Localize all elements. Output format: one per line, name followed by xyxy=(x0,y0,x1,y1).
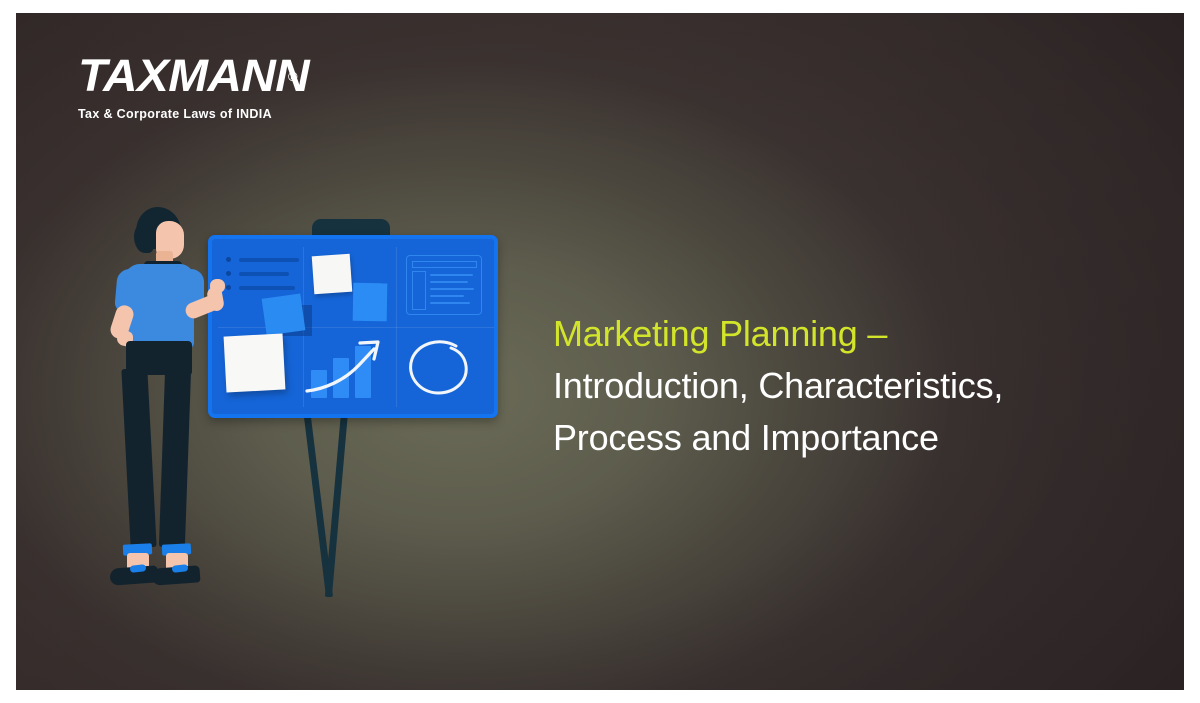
bullet-dot-icon xyxy=(226,271,231,276)
planning-board xyxy=(208,235,498,418)
bullet-dot-icon xyxy=(226,257,231,262)
registered-trademark-icon: ® xyxy=(288,69,298,84)
document-text-line xyxy=(430,288,474,290)
document-header-bar xyxy=(412,261,477,268)
person-leg-right xyxy=(159,369,191,547)
sticky-note-blue-held xyxy=(262,293,306,335)
page-title-line-1: Marketing Planning – xyxy=(553,308,1153,360)
list-item xyxy=(226,285,299,290)
easel-leg-right xyxy=(325,401,349,597)
list-item xyxy=(226,257,299,262)
list-item-line xyxy=(239,286,295,290)
page-title-line-2: Introduction, Characteristics, xyxy=(553,360,1153,412)
hand-drawn-circle-icon xyxy=(404,335,476,401)
sticky-note-white-top xyxy=(312,254,353,295)
sticky-note-blue-top xyxy=(353,283,388,322)
logo-wordmark: TAXMANN xyxy=(78,53,343,98)
document-sidebar-block xyxy=(412,271,426,310)
taxmann-logo[interactable]: TAXMANN ® Tax & Corporate Laws of INDIA xyxy=(78,53,328,121)
document-text-line xyxy=(430,295,464,297)
hero-illustration xyxy=(90,191,510,603)
presenter-person xyxy=(90,199,220,599)
document-text-line xyxy=(430,274,473,276)
list-item-line xyxy=(239,258,299,262)
person-hand-right xyxy=(210,279,225,293)
growth-arrow-icon xyxy=(304,331,396,401)
list-item xyxy=(226,271,299,276)
person-leg-left xyxy=(121,369,156,547)
document-text-line xyxy=(430,302,470,304)
bullet-list-panel xyxy=(226,257,299,299)
banner-canvas: TAXMANN ® Tax & Corporate Laws of INDIA xyxy=(16,13,1184,690)
person-hair-side xyxy=(134,223,154,253)
image-frame: TAXMANN ® Tax & Corporate Laws of INDIA xyxy=(0,0,1200,703)
bullet-dot-icon xyxy=(226,285,231,290)
board-divider-horizontal xyxy=(218,327,494,328)
document-text-line xyxy=(430,281,468,283)
page-title-line-3: Process and Importance xyxy=(553,412,1153,464)
sticky-note-white-large xyxy=(224,333,286,392)
list-item-line xyxy=(239,272,289,276)
document-outline-panel xyxy=(406,255,482,315)
logo-tagline: Tax & Corporate Laws of INDIA xyxy=(78,107,328,121)
planning-board-surface xyxy=(212,239,494,408)
page-title: Marketing Planning – Introduction, Chara… xyxy=(553,308,1153,464)
